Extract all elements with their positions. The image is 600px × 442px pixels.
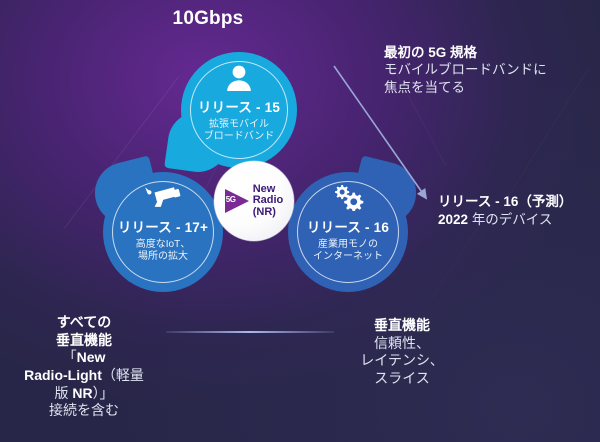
hub-label-line2: Radio xyxy=(253,194,284,206)
note-vertical-features: 垂直機能 信頼性、 レイテンシ、 スライス xyxy=(312,317,492,388)
note-line3: 「New xyxy=(0,349,168,367)
note-line5-bold: NR xyxy=(72,385,92,401)
note-line5-rest: ）」 xyxy=(93,385,114,401)
bubble-subtitle: 拡張モバイル ブロードバンド xyxy=(204,119,275,143)
note-line4: Radio-Light（軽量 xyxy=(0,367,168,385)
note-release-16-forecast: リリース - 16（予測） 2022 年のデバイス xyxy=(438,193,600,228)
note-line4-bold: Radio-Light xyxy=(24,367,102,383)
note-heading: 最初の 5G 規格 xyxy=(384,44,600,61)
note-line5: 版 NR）」 xyxy=(0,385,168,403)
bubble-subtitle-line1: 産業用モノの xyxy=(318,239,378,250)
page-title: 10Gbps xyxy=(0,8,416,30)
note-body-line2: 焦点を当てる xyxy=(384,79,600,96)
bubble-subtitle-line1: 拡張モバイル xyxy=(209,119,269,130)
note-all-vertical-features: すべての 垂直機能 「New Radio-Light（軽量 版 NR）」 接続を… xyxy=(0,314,168,420)
hub-label-line1: New xyxy=(253,183,276,195)
note-heading: 垂直機能 xyxy=(312,317,492,335)
note-body-text: 年のデバイス xyxy=(472,212,553,227)
bubble-subtitle-line1: 高度なIoT、 xyxy=(136,239,190,250)
person-icon xyxy=(224,64,254,92)
note-year: 2022 xyxy=(438,212,468,227)
note-body-line3: スライス xyxy=(312,370,492,388)
divider-line xyxy=(166,331,334,333)
bubble-release-16[interactable]: リリース - 16 産業用モノの インターネット xyxy=(288,172,408,292)
note-first-5g-standard: 最初の 5G 規格 モバイルブロードバンドに 焦点を当てる xyxy=(384,44,600,96)
note-body-line1: モバイルブロードバンドに xyxy=(384,61,600,78)
cctv-camera-icon xyxy=(143,183,183,211)
bubble-subtitle: 産業用モノの インターネット xyxy=(313,239,383,263)
bubble-release-15[interactable]: リリース - 15 拡張モバイル ブロードバンド xyxy=(181,52,297,168)
bubble-subtitle-line2: 場所の拡大 xyxy=(138,251,188,262)
note-heading: リリース - 16（予測） xyxy=(438,193,600,211)
note-line2: 垂直機能 xyxy=(0,332,168,350)
hub-label-line3: (NR) xyxy=(253,206,276,218)
note-line5-pre: 版 xyxy=(54,385,72,401)
bubble-title: リリース - 17+ xyxy=(118,216,208,236)
note-body-line1: 信頼性、 xyxy=(312,335,492,353)
note-body-line2: レイテンシ、 xyxy=(312,352,492,370)
center-hub-new-radio[interactable]: 5G New Radio (NR) xyxy=(214,161,294,241)
bubble-subtitle-line2: インターネット xyxy=(313,251,383,262)
bubble-release-17-plus[interactable]: リリース - 17+ 高度なIoT、 場所の拡大 xyxy=(103,172,223,292)
bubble-subtitle: 高度なIoT、 場所の拡大 xyxy=(136,239,190,263)
5g-logo-icon: 5G xyxy=(225,188,251,214)
hub-label: New Radio (NR) xyxy=(253,184,284,219)
5g-logo-label: 5G xyxy=(226,195,236,204)
note-line6: 接続を含む xyxy=(0,402,168,420)
note-line3-open: 「 xyxy=(63,349,77,365)
bubble-title: リリース - 16 xyxy=(307,216,389,236)
note-line3-bold: New xyxy=(77,349,106,365)
bubble-subtitle-line2: ブロードバンド xyxy=(204,131,275,142)
note-line1: すべての xyxy=(0,314,168,332)
note-body: 2022 年のデバイス xyxy=(438,211,600,229)
gears-icon xyxy=(329,183,367,211)
bubble-title: リリース - 15 xyxy=(198,96,280,116)
infographic-canvas: 10Gbps リリース - 15 拡張モバイル ブロードバンド xyxy=(0,0,600,442)
note-line4-rest: （軽量 xyxy=(102,367,144,383)
